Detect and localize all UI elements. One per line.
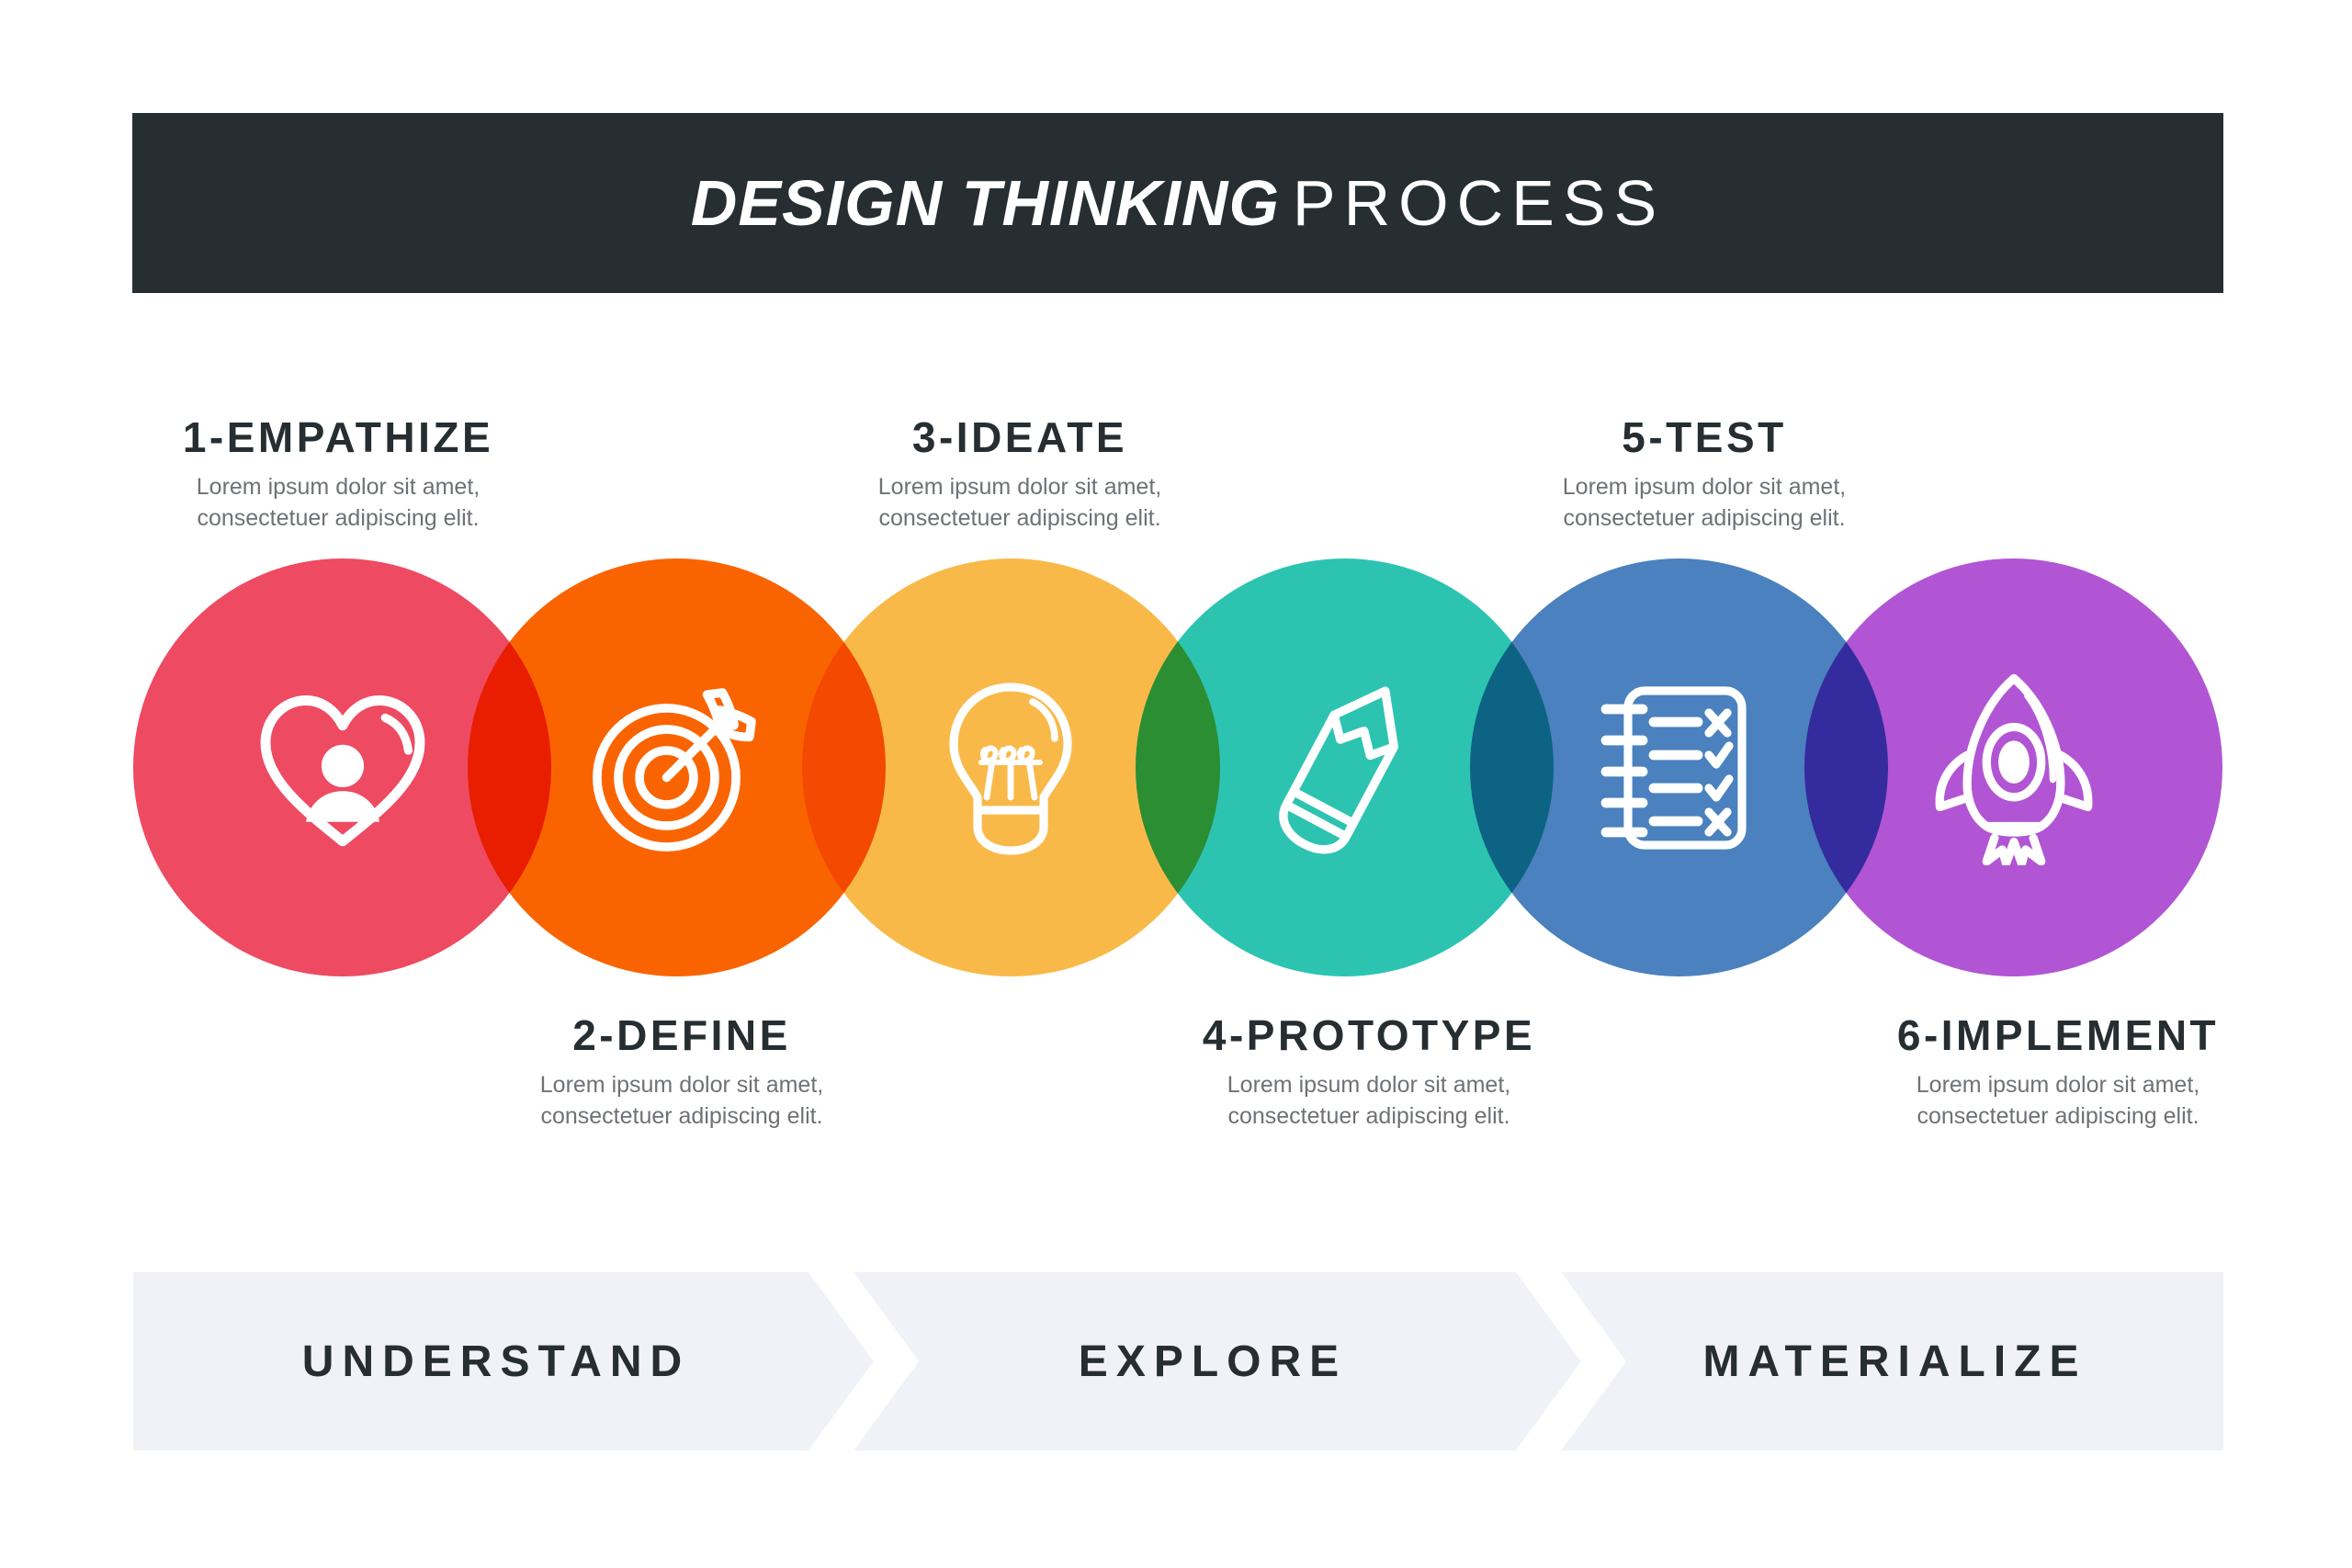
step-description-line-1: Lorem ipsum dolor sit amet, <box>424 1070 939 1101</box>
phase-cell-materialize[interactable]: MATERIALIZE <box>1566 1272 2223 1450</box>
header-bar: DESIGN THINKINGPROCESS <box>132 113 2223 293</box>
step-title: 4-PROTOTYPE <box>1112 1013 1626 1057</box>
step-description-line-1: Lorem ipsum dolor sit amet, <box>763 472 1277 503</box>
page-title-bold: DESIGN THINKING <box>691 167 1280 239</box>
phase-cell-understand[interactable]: UNDERSTAND <box>133 1272 859 1450</box>
step-label-1-empathize: 1-EMPATHIZE Lorem ipsum dolor sit amet, … <box>81 415 595 535</box>
process-circles-row <box>133 558 2222 976</box>
step-title: 6-IMPLEMENT <box>1801 1013 2315 1057</box>
lightbulb-icon <box>905 662 1116 874</box>
step-label-4-prototype: 4-PROTOTYPE Lorem ipsum dolor sit amet, … <box>1112 1013 1626 1133</box>
step-title: 3-IDEATE <box>763 415 1277 459</box>
circle-step-6-implement[interactable] <box>1804 558 2222 976</box>
step-description: Lorem ipsum dolor sit amet, consectetuer… <box>424 1070 939 1133</box>
heart-person-icon <box>237 662 448 874</box>
step-description-line-2: consectetuer adipiscing elit. <box>763 503 1277 535</box>
step-title: 5-TEST <box>1447 415 1962 459</box>
step-description-line-2: consectetuer adipiscing elit. <box>1112 1101 1626 1133</box>
infographic-canvas: DESIGN THINKINGPROCESS <box>0 0 2352 1568</box>
step-description: Lorem ipsum dolor sit amet, consectetuer… <box>81 472 595 535</box>
step-description-line-2: consectetuer adipiscing elit. <box>1801 1101 2315 1133</box>
step-title: 1-EMPATHIZE <box>81 415 595 459</box>
step-label-3-ideate: 3-IDEATE Lorem ipsum dolor sit amet, con… <box>763 415 1277 535</box>
phase-banner: UNDERSTAND EXPLORE MATERIALIZE <box>133 1272 2223 1450</box>
step-description: Lorem ipsum dolor sit amet, consectetuer… <box>1112 1070 1626 1133</box>
rocket-icon <box>1908 662 2120 874</box>
step-description-line-2: consectetuer adipiscing elit. <box>81 503 595 535</box>
step-description-line-2: consectetuer adipiscing elit. <box>1447 503 1962 535</box>
step-description: Lorem ipsum dolor sit amet, consectetuer… <box>763 472 1277 535</box>
page-title: DESIGN THINKINGPROCESS <box>691 171 1665 235</box>
step-description-line-1: Lorem ipsum dolor sit amet, <box>1447 472 1962 503</box>
phase-label: MATERIALIZE <box>1702 1337 2086 1387</box>
step-description-line-2: consectetuer adipiscing elit. <box>424 1101 939 1133</box>
phase-label: UNDERSTAND <box>302 1337 690 1387</box>
checklist-notebook-icon <box>1574 662 1785 874</box>
phase-cell-explore[interactable]: EXPLORE <box>859 1272 1566 1450</box>
step-title: 2-DEFINE <box>424 1013 939 1057</box>
pencil-icon <box>1239 662 1451 874</box>
step-label-5-test: 5-TEST Lorem ipsum dolor sit amet, conse… <box>1447 415 1962 535</box>
target-arrow-icon <box>571 662 782 874</box>
step-description-line-1: Lorem ipsum dolor sit amet, <box>1112 1070 1626 1101</box>
step-description: Lorem ipsum dolor sit amet, consectetuer… <box>1447 472 1962 535</box>
step-label-2-define: 2-DEFINE Lorem ipsum dolor sit amet, con… <box>424 1013 939 1133</box>
step-description-line-1: Lorem ipsum dolor sit amet, <box>81 472 595 503</box>
step-description-line-1: Lorem ipsum dolor sit amet, <box>1801 1070 2315 1101</box>
step-description: Lorem ipsum dolor sit amet, consectetuer… <box>1801 1070 2315 1133</box>
step-label-6-implement: 6-IMPLEMENT Lorem ipsum dolor sit amet, … <box>1801 1013 2315 1133</box>
phase-label: EXPLORE <box>1079 1337 1347 1387</box>
page-title-light: PROCESS <box>1293 167 1665 239</box>
